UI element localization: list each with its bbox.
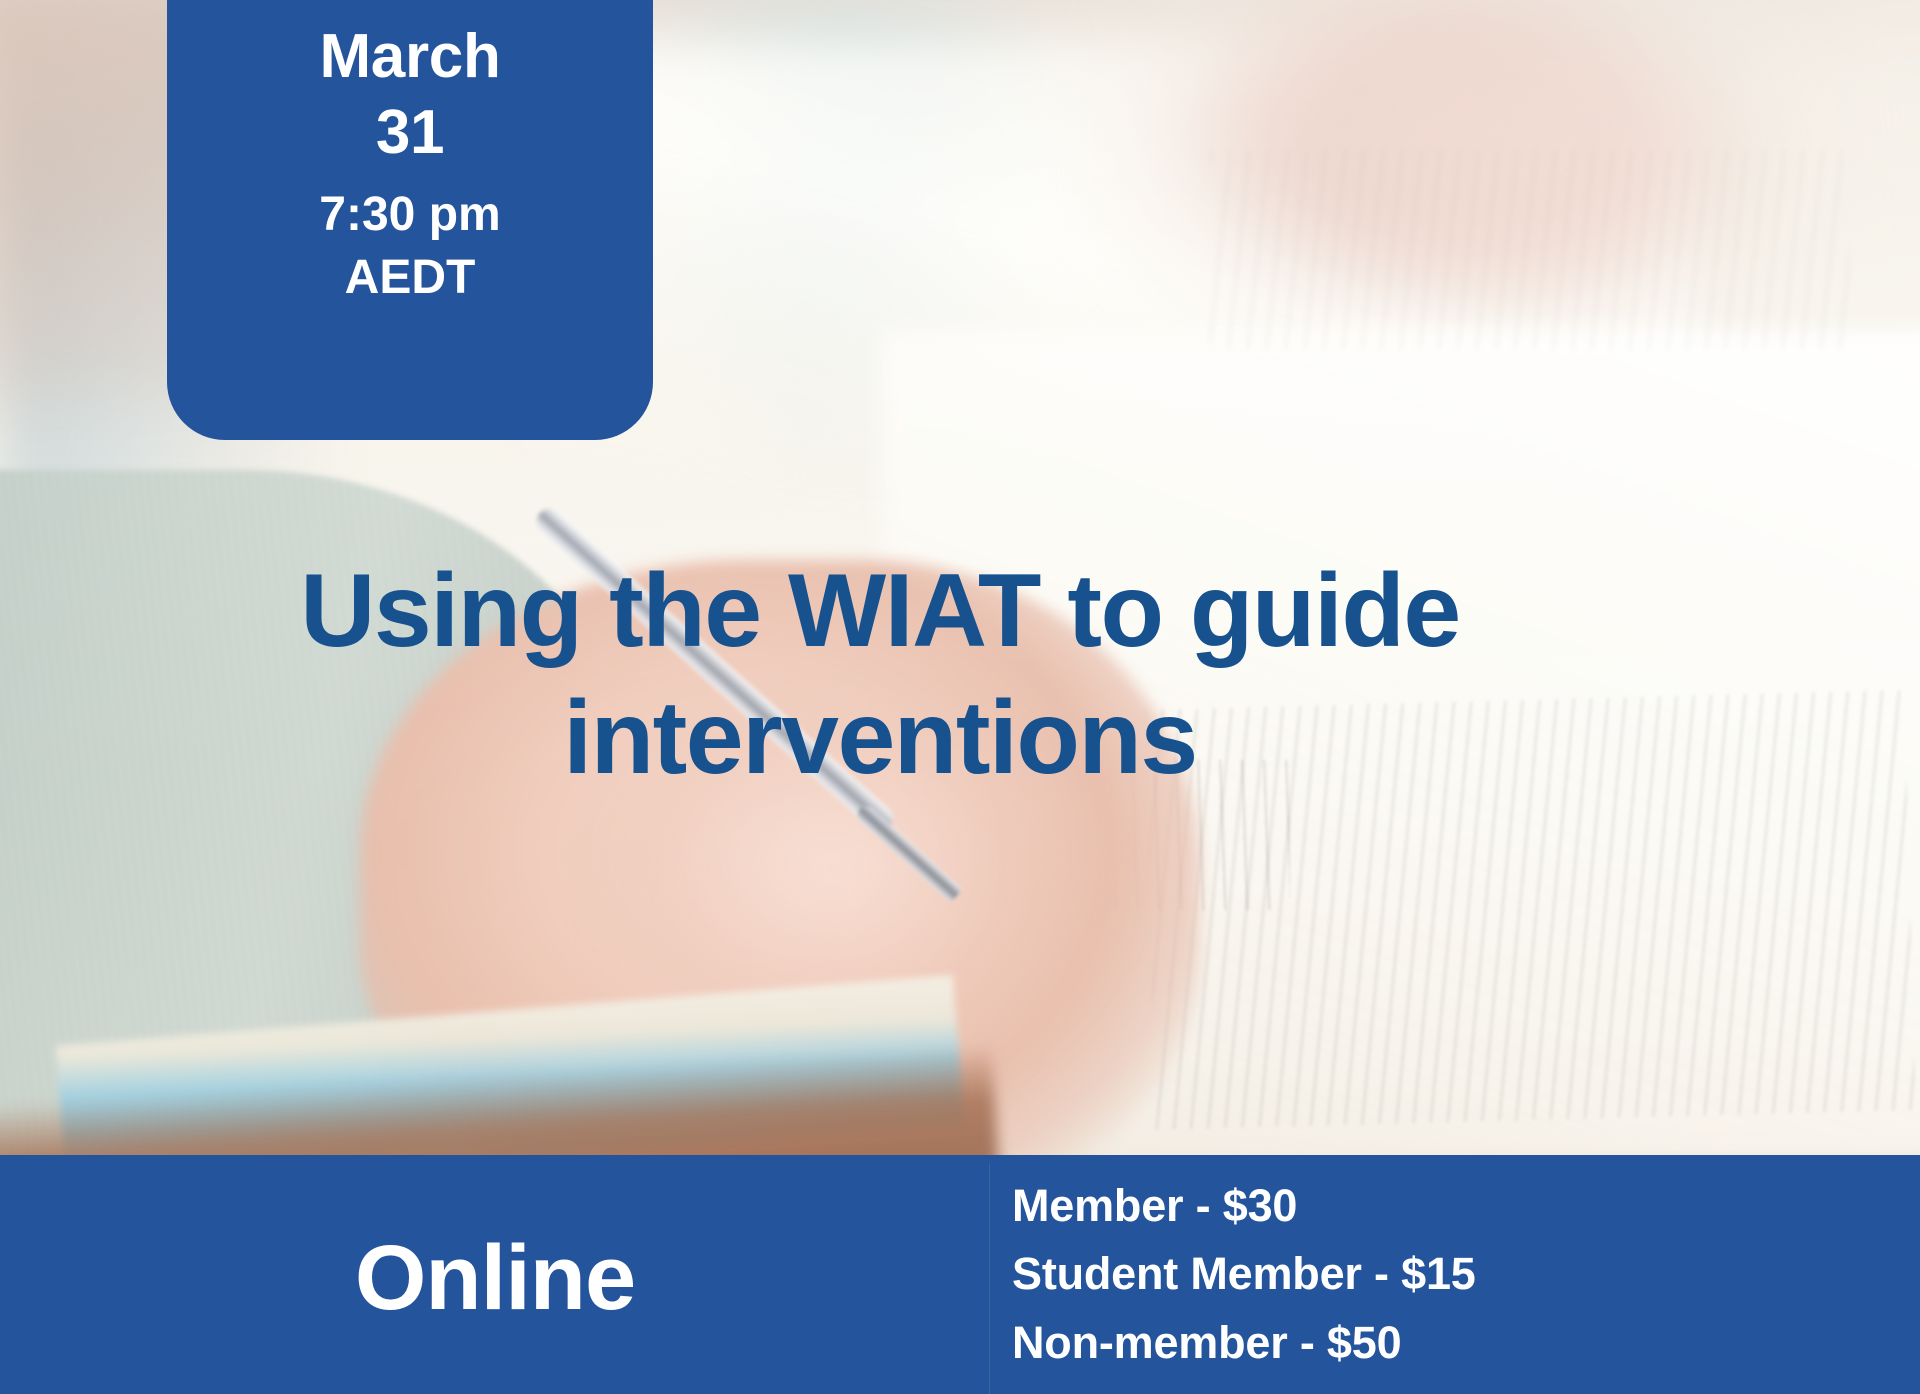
footer-divider: [989, 1163, 990, 1394]
badge-timezone: AEDT: [345, 247, 476, 309]
footer-mode-section: Online: [0, 1155, 990, 1394]
price-student-member: Student Member - $15: [1012, 1240, 1920, 1308]
event-title: Using the WIAT to guide interventions: [180, 548, 1580, 802]
event-flyer: March 31 7:30 pm AEDT Using the WIAT to …: [0, 0, 1920, 1394]
date-badge: March 31 7:30 pm AEDT: [167, 0, 653, 440]
price-non-member: Non-member - $50: [1012, 1309, 1920, 1377]
badge-time: 7:30 pm: [319, 183, 500, 247]
badge-day: 31: [376, 95, 444, 171]
delivery-mode-label: Online: [355, 1232, 635, 1324]
event-title-line-2: interventions: [180, 675, 1580, 802]
footer-bar: Online Member - $30 Student Member - $15…: [0, 1155, 1920, 1394]
pricing-section: Member - $30 Student Member - $15 Non-me…: [990, 1155, 1920, 1394]
price-member: Member - $30: [1012, 1172, 1920, 1240]
event-title-line-1: Using the WIAT to guide: [180, 548, 1580, 675]
badge-month: March: [319, 20, 500, 93]
